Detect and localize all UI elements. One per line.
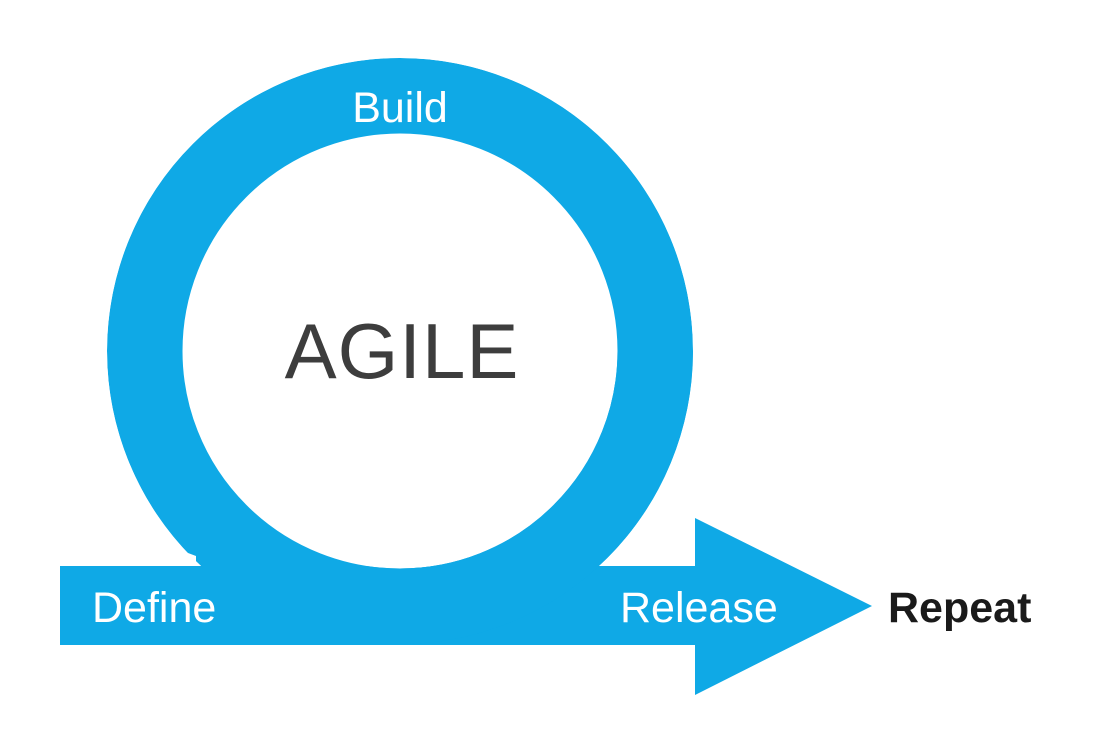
center-label-agile: AGILE (285, 307, 520, 395)
outside-label-repeat: Repeat (888, 584, 1031, 632)
agile-cycle-diagram: Build Define Release AGILE Repeat (0, 0, 1100, 751)
stage-label-release: Release (620, 584, 778, 632)
stage-label-build: Build (352, 84, 448, 132)
stage-label-define: Define (92, 584, 216, 632)
stage-define[interactable]: Define (92, 584, 216, 632)
agile-diagram-root: Build Define Release AGILE Repeat (0, 0, 1100, 751)
stage-release[interactable]: Release (620, 584, 778, 632)
